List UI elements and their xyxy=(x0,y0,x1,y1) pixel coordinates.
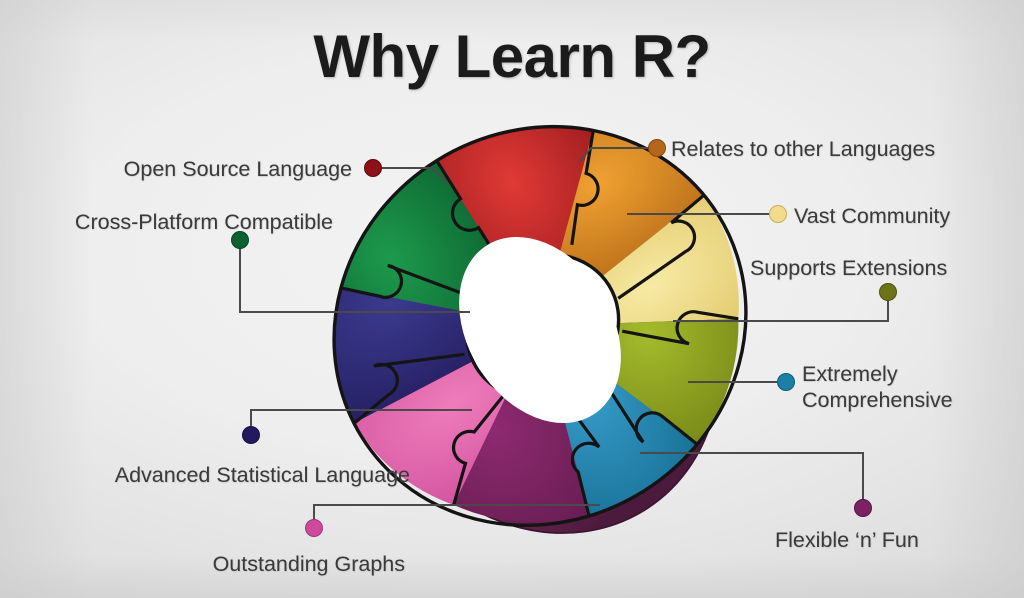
dot-supports-extensions[interactable] xyxy=(880,284,897,301)
callout-label-extremely-comprehensive: Extremely Comprehensive xyxy=(802,361,1002,413)
callout-label-relates-to-other-languages: Relates to other Languages xyxy=(671,136,971,162)
infographic-canvas: Why Learn R? xyxy=(0,0,1024,598)
dot-flexible-n-fun[interactable] xyxy=(855,500,872,517)
callout-label-cross-platform-compatible: Cross-Platform Compatible xyxy=(57,209,333,235)
callout-label-supports-extensions: Supports Extensions xyxy=(750,255,980,281)
puzzle-wheel-graphic xyxy=(0,0,1024,598)
dot-open-source-language[interactable] xyxy=(365,160,382,177)
dot-extremely-comprehensive[interactable] xyxy=(778,374,795,391)
dot-relates-to-other-languages[interactable] xyxy=(649,140,666,157)
dot-advanced-statistical-language[interactable] xyxy=(243,427,260,444)
dot-outstanding-graphs[interactable] xyxy=(306,520,323,537)
callout-label-open-source-language: Open Source Language xyxy=(112,156,352,182)
callout-label-advanced-statistical-language: Advanced Statistical Language xyxy=(95,462,410,488)
callout-label-outstanding-graphs: Outstanding Graphs xyxy=(195,551,405,577)
dot-vast-community[interactable] xyxy=(770,206,787,223)
callout-label-vast-community: Vast Community xyxy=(794,203,994,229)
callout-label-flexible-n-fun: Flexible ‘n’ Fun xyxy=(775,527,975,553)
